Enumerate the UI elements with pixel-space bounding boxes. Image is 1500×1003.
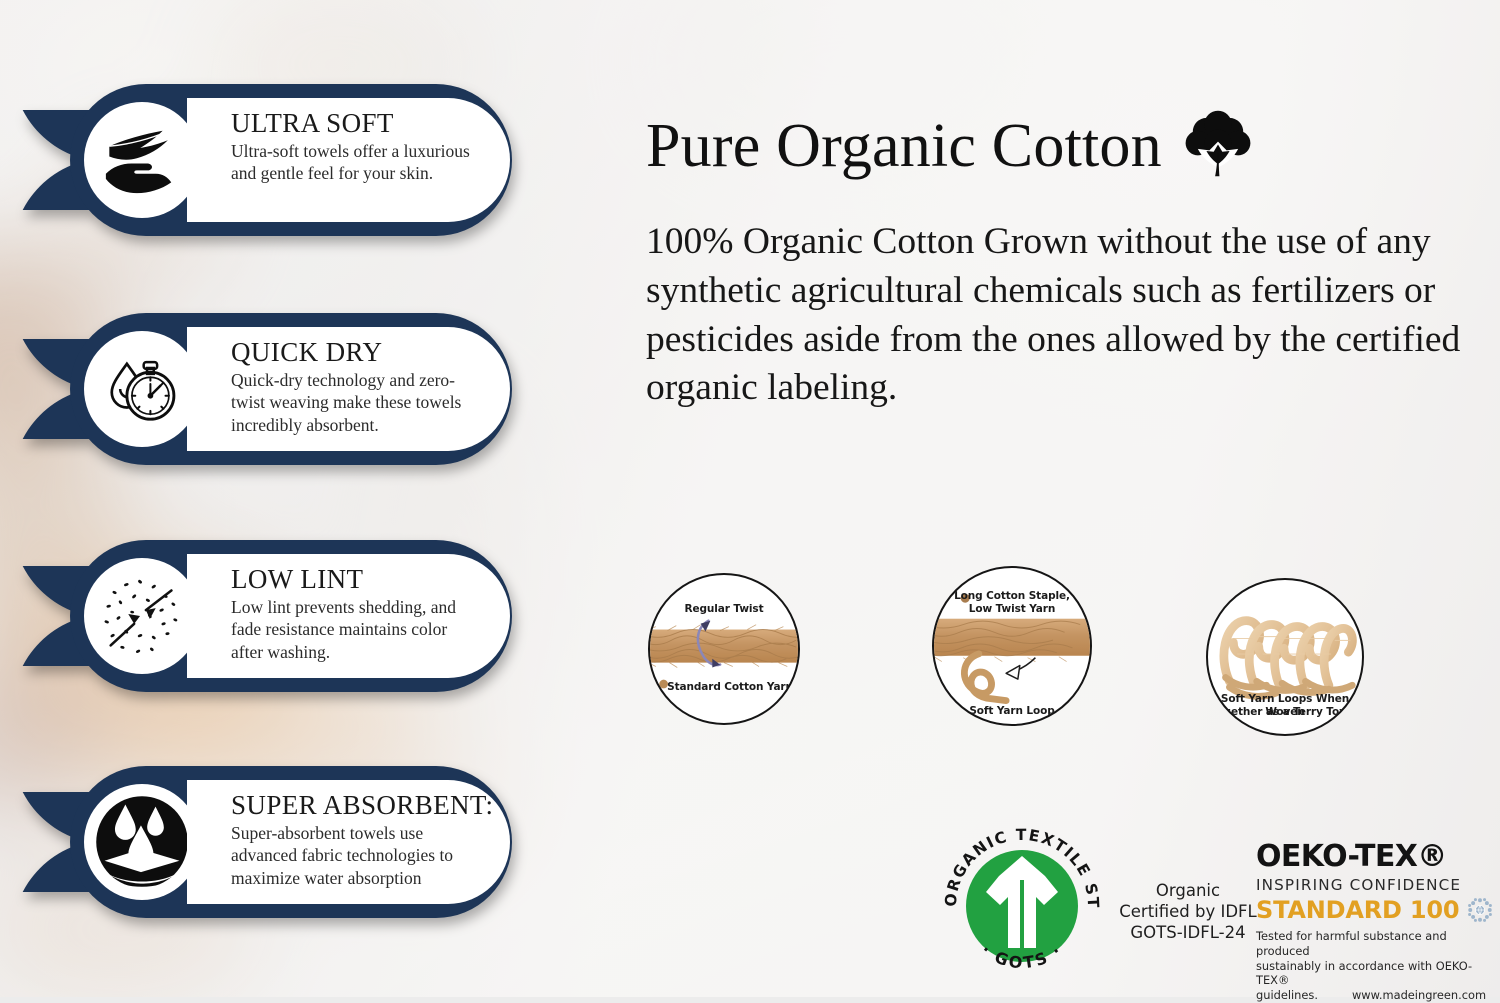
yarn-label-top-line1: Long Cotton Staple, <box>934 590 1090 603</box>
oeko-tex-standard: STANDARD 100 <box>1256 898 1459 922</box>
oeko-tex-tagline: INSPIRING CONFIDENCE <box>1256 876 1494 894</box>
oeko-website: www.madeingreen.com <box>1352 988 1486 1003</box>
gots-caption-line3: GOTS-IDFL-24 <box>1112 922 1264 943</box>
lint-particles-arrows-icon <box>93 567 191 665</box>
oeko-tex-sunburst-icon <box>1467 897 1493 923</box>
feature-title: ULTRA SOFT <box>231 110 482 138</box>
feature-card-ultra-soft: ULTRA SOFT Ultra-soft towels offer a lux… <box>18 84 512 236</box>
feature-card-low-lint: LOW LINT Low lint prevents shedding, and… <box>18 540 512 692</box>
gots-logo-icon: GLOBAL ORGANIC TEXTILE STANDARD · GOTS · <box>936 820 1108 992</box>
oeko-tex-fine-print: Tested for harmful substance and produce… <box>1256 929 1494 1003</box>
feature-description: Ultra-soft towels offer a luxurious and … <box>231 140 482 186</box>
feature-icon-circle <box>84 784 200 900</box>
feature-title: QUICK DRY <box>231 339 482 367</box>
feature-card-super-absorbent: SUPER ABSORBENT: Super-absorbent towels … <box>18 766 512 918</box>
yarn-label-top-line2: Low Twist Yarn <box>934 603 1090 616</box>
gots-caption-line1: Organic <box>1112 880 1264 901</box>
feature-title: LOW LINT <box>231 566 482 594</box>
oeko-fine-line1: Tested for harmful substance and produce… <box>1256 929 1494 959</box>
gots-caption-line2: Certified by IDFL <box>1112 901 1264 922</box>
gots-caption: Organic Certified by IDFL GOTS-IDFL-24 <box>1112 880 1264 943</box>
feature-icon-circle <box>84 558 200 674</box>
gots-certification-logo: GLOBAL ORGANIC TEXTILE STANDARD · GOTS · <box>936 820 1108 992</box>
water-drops-fabric-icon <box>90 790 194 894</box>
feature-description: Super-absorbent towels use advanced fabr… <box>231 822 482 890</box>
feature-description: Low lint prevents shedding, and fade res… <box>231 596 482 664</box>
feature-icon-circle <box>84 331 200 447</box>
yarn-diagram-low-twist: Long Cotton Staple, Low Twist Yarn Soft … <box>932 566 1092 726</box>
yarn-label-bottom: Standard Cotton Yarn <box>650 681 798 694</box>
feature-description: Quick-dry technology and zero-twist weav… <box>231 369 482 437</box>
oeko-fine-line3: guidelines. <box>1256 988 1318 1003</box>
cotton-boll-icon <box>1182 110 1254 182</box>
feature-icon-circle <box>84 102 200 218</box>
yarn-diagram-regular-twist: Regular Twist Standard Cotton Yarn <box>648 573 800 725</box>
yarn-label-bottom: Soft Yarn Loop <box>934 705 1090 718</box>
feature-text-body: QUICK DRY Quick-dry technology and zero-… <box>201 327 510 451</box>
oeko-tex-certification: OEKO-TEX® INSPIRING CONFIDENCE STANDARD … <box>1256 842 1494 1003</box>
feature-title: SUPER ABSORBENT: <box>231 792 482 820</box>
water-drop-stopwatch-icon <box>100 347 184 431</box>
regular-twist-yarn-icon <box>650 575 798 723</box>
feature-text-body: SUPER ABSORBENT: Super-absorbent towels … <box>201 780 510 904</box>
feature-text-body: ULTRA SOFT Ultra-soft towels offer a lux… <box>201 98 510 222</box>
yarn-label-bottom-line2: Together as a Terry Towel <box>1208 706 1362 719</box>
page-title: Pure Organic Cotton <box>646 115 1162 177</box>
hero-paragraph: 100% Organic Cotton Grown without the us… <box>646 218 1466 413</box>
feather-in-hand-icon <box>99 117 185 203</box>
headline-row: Pure Organic Cotton <box>646 104 1446 188</box>
feature-text-body: LOW LINT Low lint prevents shedding, and… <box>201 554 510 678</box>
feature-card-quick-dry: QUICK DRY Quick-dry technology and zero-… <box>18 313 512 465</box>
yarn-diagram-terry-loops: Soft Yarn Loops When Woven Together as a… <box>1206 578 1364 736</box>
oeko-fine-line2: sustainably in accordance with OEKO-TEX® <box>1256 959 1494 989</box>
oeko-tex-brand: OEKO-TEX® <box>1256 842 1494 872</box>
yarn-label-top: Regular Twist <box>650 603 798 616</box>
